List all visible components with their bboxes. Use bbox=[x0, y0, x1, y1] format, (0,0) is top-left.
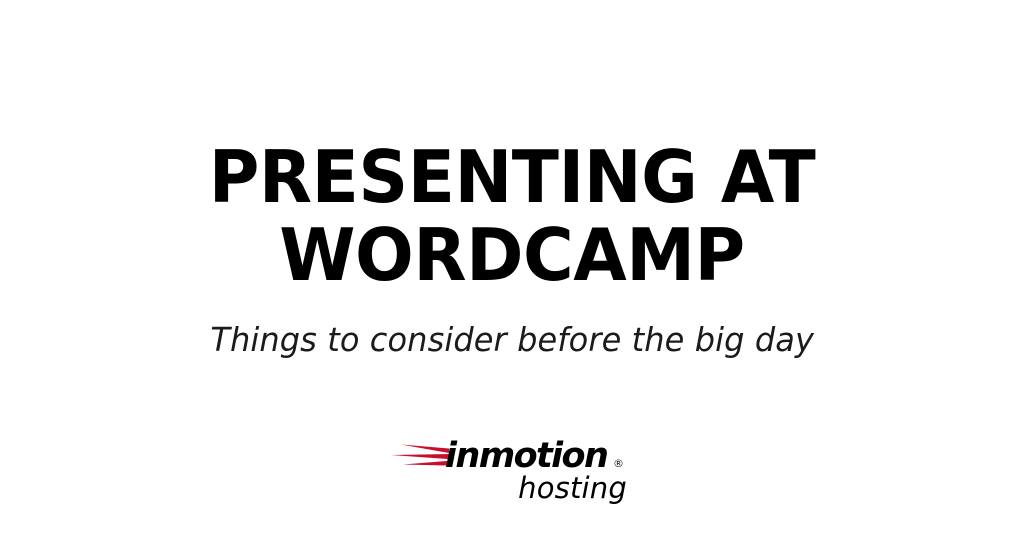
registered-trademark-icon: ® bbox=[613, 457, 624, 470]
title-line-1: PRESENTING AT bbox=[20, 138, 1003, 216]
presentation-slide: PRESENTING AT WORDCAMP Things to conside… bbox=[0, 0, 1024, 538]
subtitle: Things to consider before the big day bbox=[210, 320, 814, 360]
title-line-2: WORDCAMP bbox=[20, 216, 1003, 294]
logo-wordmark: inmotion bbox=[445, 436, 607, 476]
page-title: PRESENTING AT WORDCAMP bbox=[0, 138, 1024, 294]
motion-streaks-icon bbox=[391, 445, 451, 466]
logo-svg: inmotion ® hosting bbox=[389, 432, 635, 504]
logo-tagline: hosting bbox=[518, 471, 627, 504]
inmotion-hosting-logo: inmotion ® hosting bbox=[389, 432, 635, 504]
